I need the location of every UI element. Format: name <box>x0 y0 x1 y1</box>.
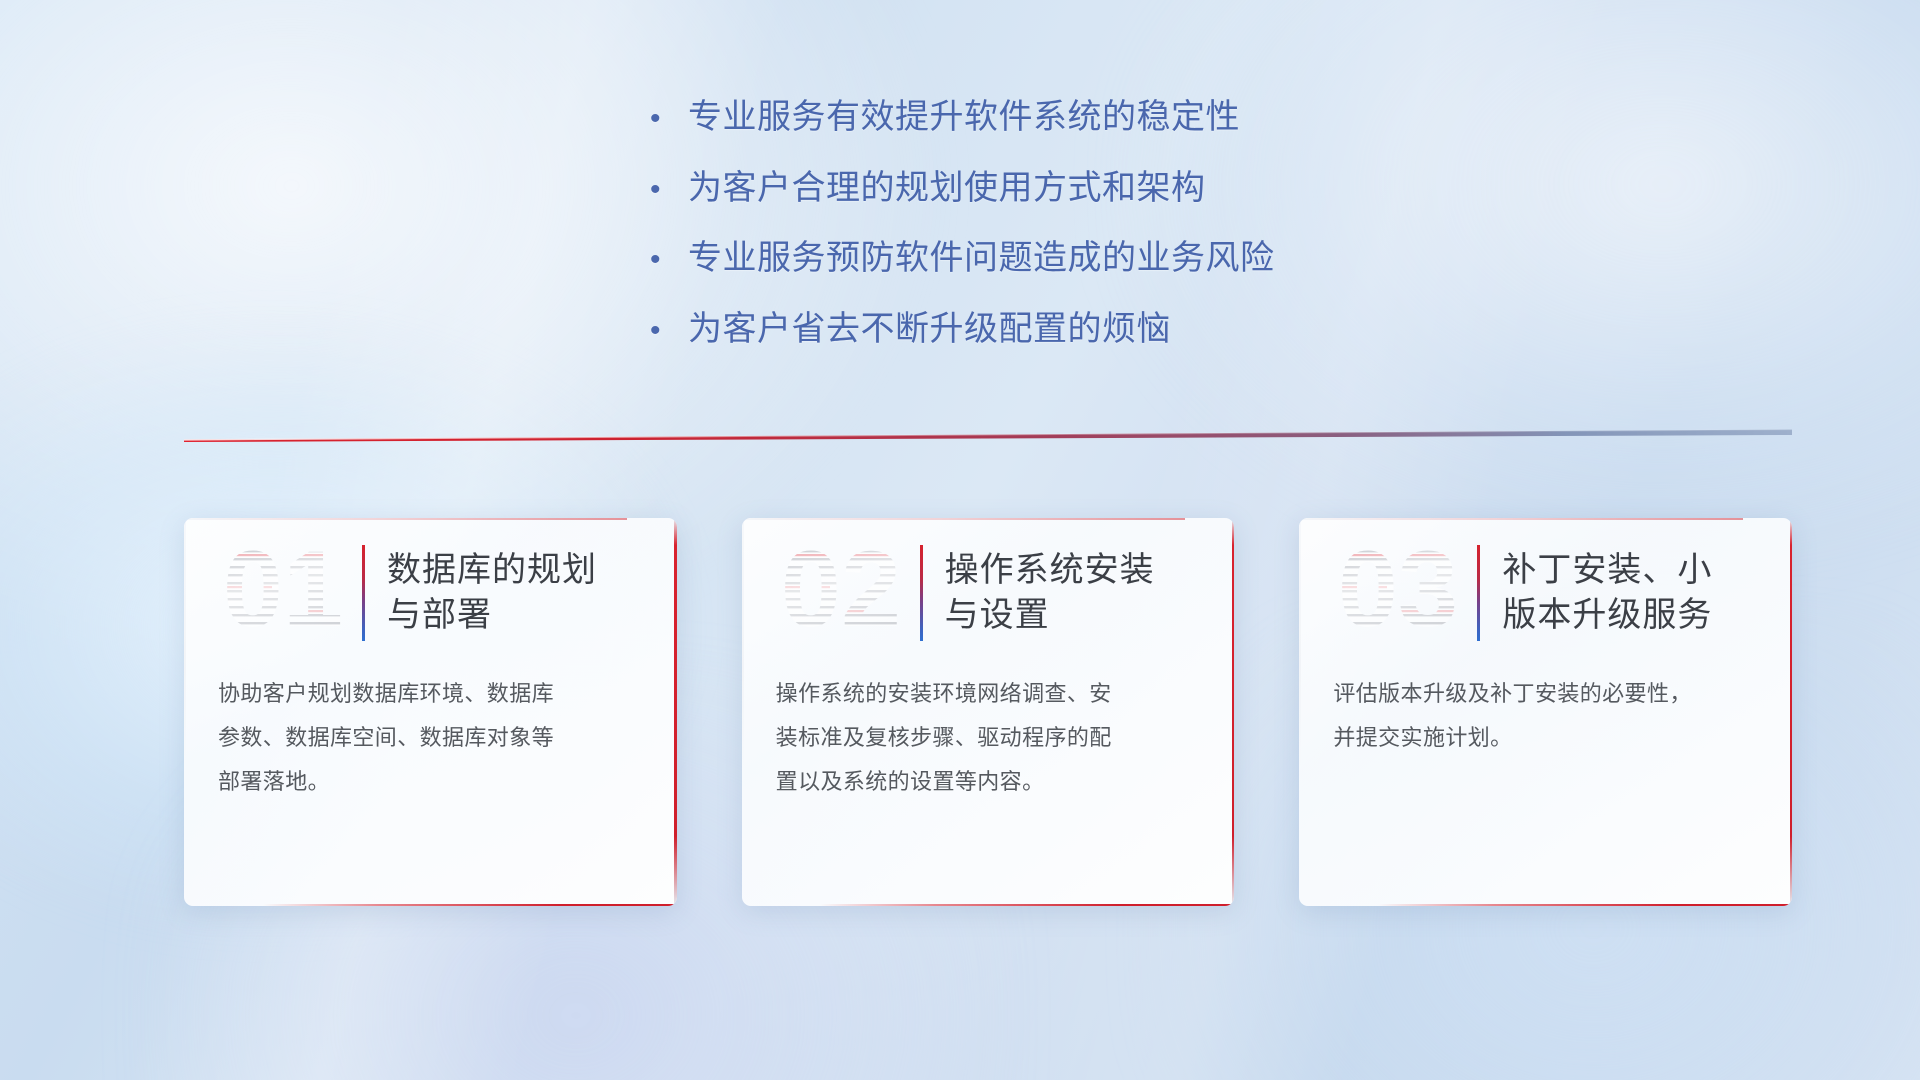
bullet-dot-icon: • <box>650 316 688 346</box>
card-number-glyph: 02 <box>768 534 914 652</box>
card-title-rule <box>920 545 923 641</box>
card-description: 评估版本升级及补丁安装的必要性， 并提交实施计划。 <box>1299 668 1792 760</box>
list-item: • 为客户合理的规划使用方式和架构 <box>650 167 1410 210</box>
card-edge-bottom <box>263 904 677 907</box>
list-item-label: 为客户省去不断升级配置的烦恼 <box>688 308 1410 351</box>
striped-number-icon: 01 <box>210 534 356 652</box>
bullet-dot-icon: • <box>650 245 688 275</box>
striped-number-icon: 03 <box>1325 534 1471 652</box>
card-number-glyph: 03 <box>1325 534 1471 652</box>
striped-number-icon: 02 <box>768 534 914 652</box>
bullet-dot-icon: • <box>650 104 688 134</box>
card-title-rule <box>362 545 365 641</box>
card-title: 补丁安装、小 版本升级服务 <box>1502 548 1764 638</box>
card-description: 协助客户规划数据库环境、数据库 参数、数据库空间、数据库对象等 部署落地。 <box>184 668 677 804</box>
card-title-rule <box>1477 545 1480 641</box>
card-number-glyph: 01 <box>210 534 356 652</box>
service-card[interactable]: 02 操作系统安装 与设置 操作系统的安 <box>742 518 1235 906</box>
list-item: • 专业服务预防软件问题造成的业务风险 <box>650 237 1410 280</box>
list-item: • 专业服务有效提升软件系统的稳定性 <box>650 96 1410 139</box>
service-card[interactable]: 01 数据库的规划 与部署 协助客户规划 <box>184 518 677 906</box>
benefits-bullet-list: • 专业服务有效提升软件系统的稳定性 • 为客户合理的规划使用方式和架构 • 专… <box>650 96 1410 350</box>
card-edge-bottom <box>820 904 1234 907</box>
card-header: 03 补丁安装、小 版本升级服务 <box>1299 518 1792 668</box>
card-edge-bottom <box>1378 904 1792 907</box>
service-card-list: 01 数据库的规划 与部署 协助客户规划 <box>184 518 1792 906</box>
card-header: 02 操作系统安装 与设置 <box>742 518 1235 668</box>
divider-wedge-icon <box>184 424 1792 442</box>
slide-root: • 专业服务有效提升软件系统的稳定性 • 为客户合理的规划使用方式和架构 • 专… <box>0 0 1920 1080</box>
service-card[interactable]: 03 补丁安装、小 版本升级服务 评估版 <box>1299 518 1792 906</box>
card-description: 操作系统的安装环境网络调查、安 装标准及复核步骤、驱动程序的配 置以及系统的设置… <box>742 668 1235 804</box>
list-item-label: 专业服务预防软件问题造成的业务风险 <box>688 237 1410 280</box>
list-item-label: 为客户合理的规划使用方式和架构 <box>688 167 1410 210</box>
card-title: 数据库的规划 与部署 <box>387 548 649 638</box>
section-divider <box>184 424 1792 442</box>
list-item-label: 专业服务有效提升软件系统的稳定性 <box>688 96 1410 139</box>
card-header: 01 数据库的规划 与部署 <box>184 518 677 668</box>
card-title: 操作系统安装 与设置 <box>945 548 1207 638</box>
list-item: • 为客户省去不断升级配置的烦恼 <box>650 308 1410 351</box>
bullet-dot-icon: • <box>650 175 688 205</box>
